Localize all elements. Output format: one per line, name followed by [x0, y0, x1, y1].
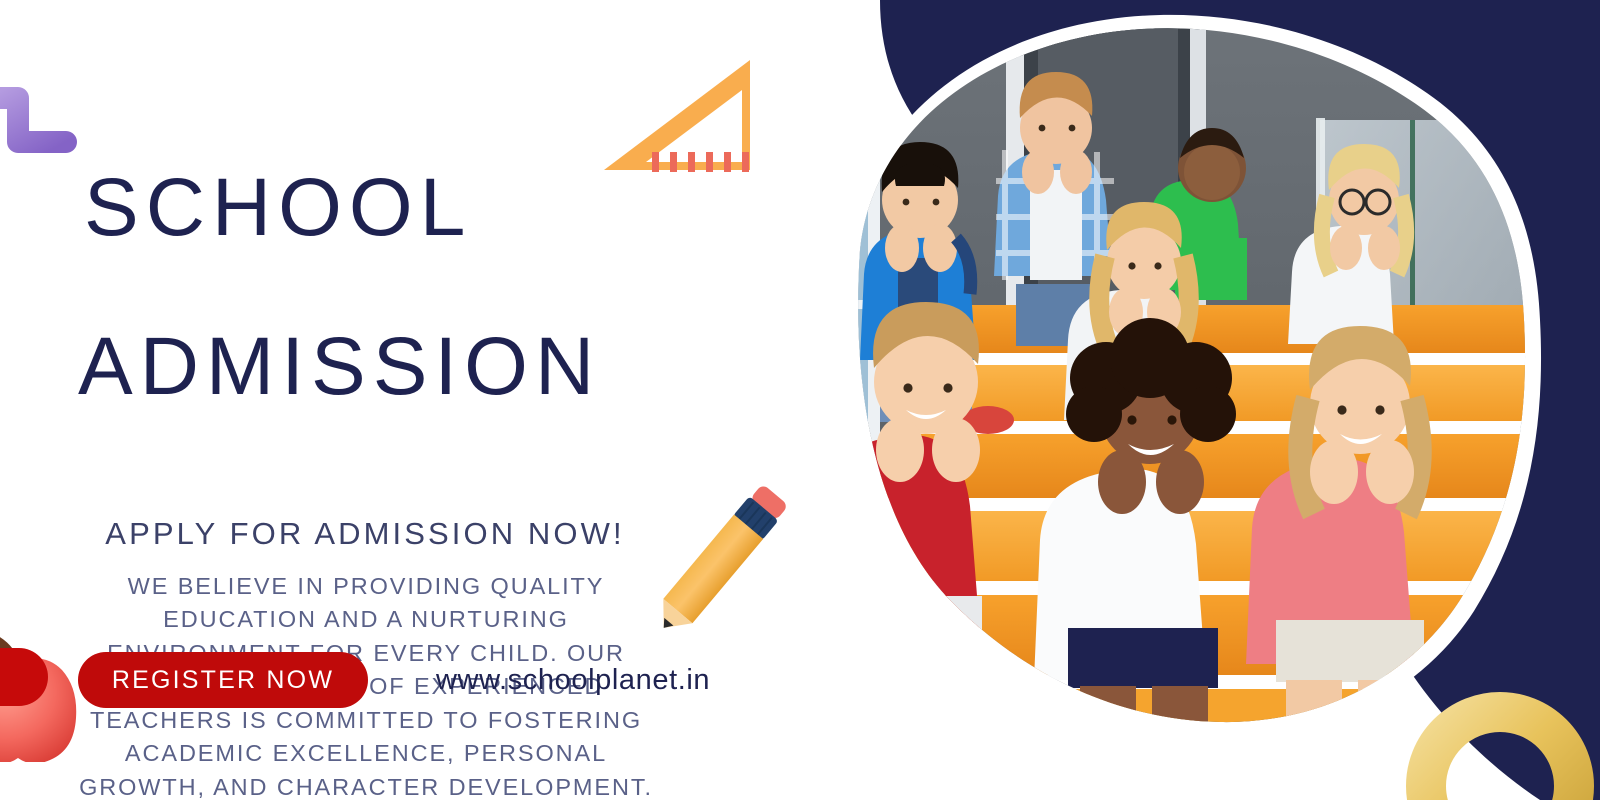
register-now-button[interactable]: REGISTER NOW [78, 652, 368, 708]
headline-line-1: SCHOOL [70, 168, 740, 248]
school-admission-banner: SCHOOL ADMISSION APPLY FOR ADMISSION NOW… [0, 0, 1600, 800]
headline-line-2: ADMISSION [70, 327, 740, 407]
torus-ring-icon [1400, 690, 1600, 800]
website-url[interactable]: www.schoolplanet.in [436, 664, 710, 697]
page-title: SCHOOL ADMISSION [70, 88, 740, 486]
call-to-action-row: REGISTER NOW www.schoolplanet.in [78, 652, 710, 708]
subheading: APPLY FOR ADMISSION NOW! [70, 516, 660, 552]
students-photo-blob [720, 0, 1600, 800]
